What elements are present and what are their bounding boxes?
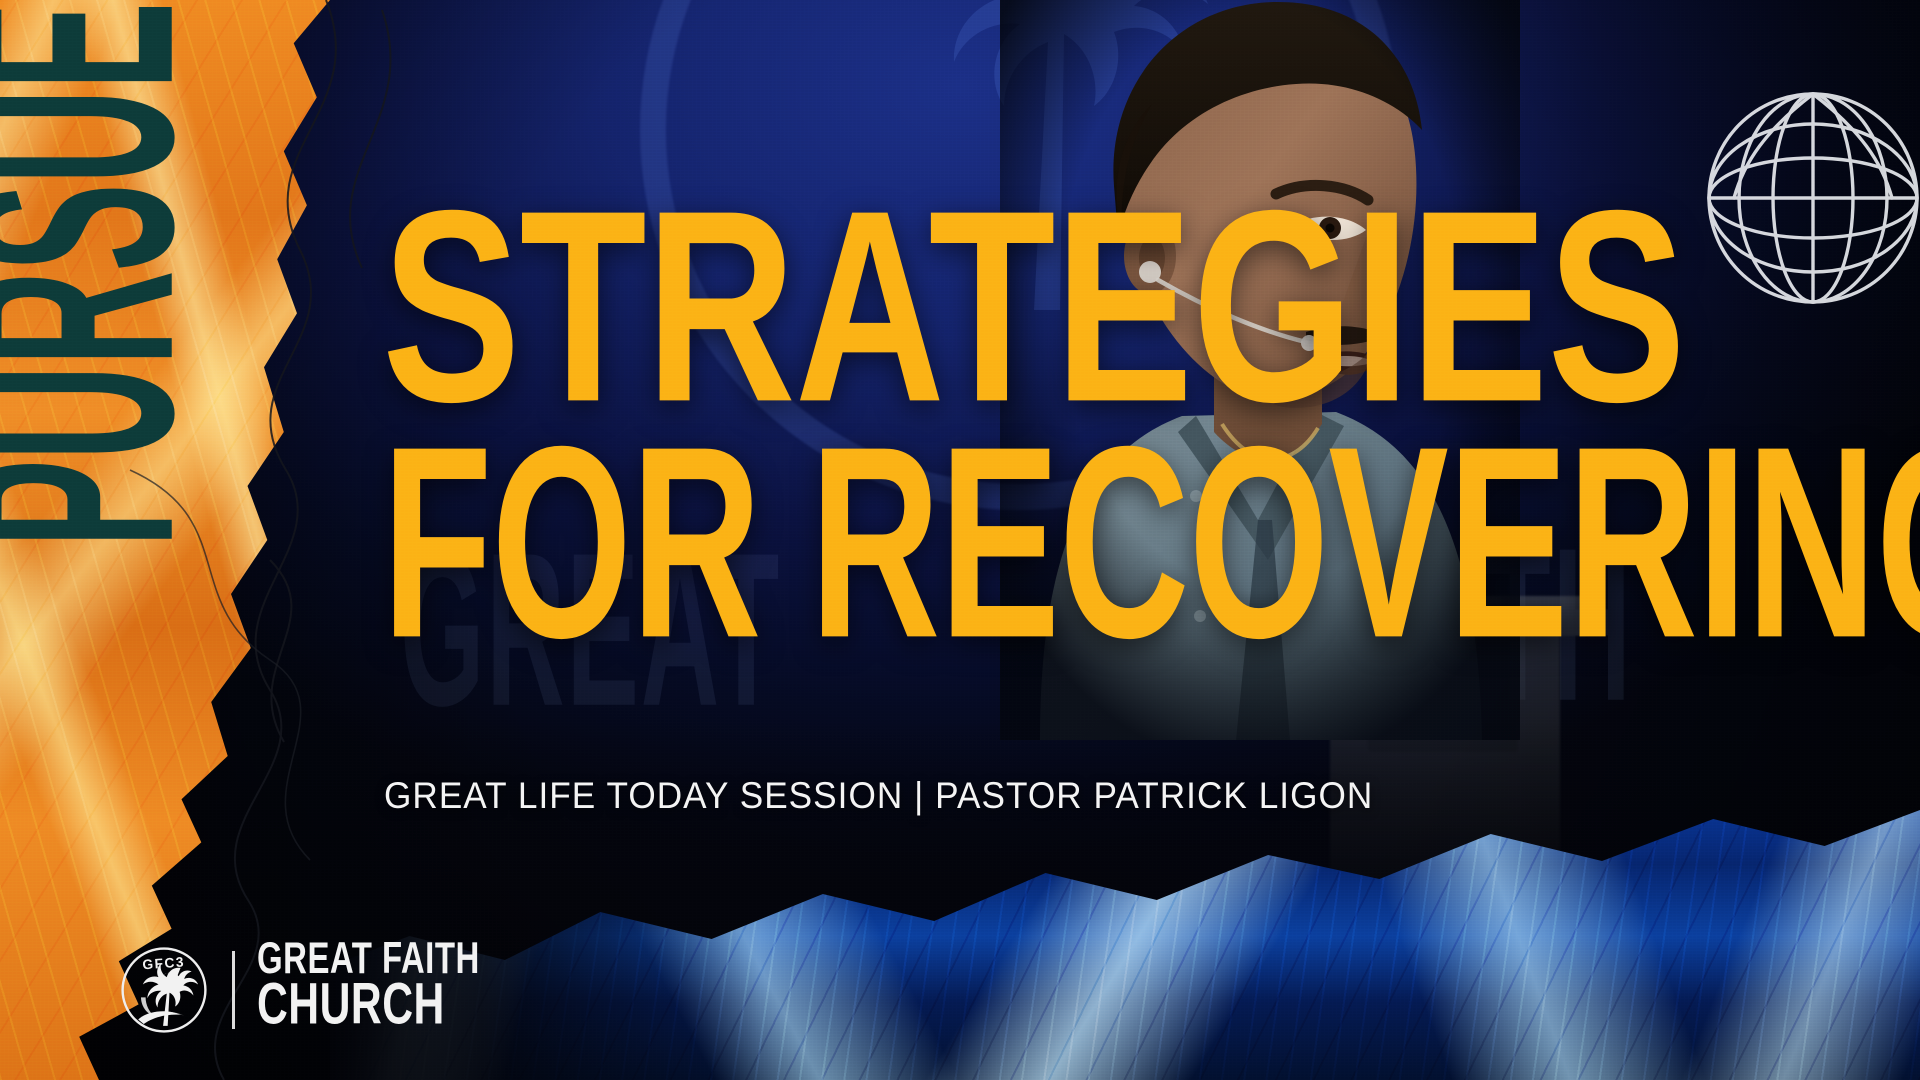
series-word-overtake: OVERTAKE	[1232, 935, 1920, 1080]
pursue-text: PURSUE	[0, 3, 199, 548]
headline-line-2: FOR RECOVERING ALL	[382, 484, 1632, 720]
logo-divider	[232, 951, 235, 1029]
wireframe-globe-icon	[1688, 70, 1920, 320]
subheadline-text: GREAT LIFE TODAY SESSION | PASTOR PATRIC…	[384, 775, 1373, 817]
church-logo-lockup: GFC3 GREAT FAITH CHURCH	[118, 944, 487, 1036]
logo-wordmark: GREAT FAITH CHURCH	[257, 947, 487, 1034]
subheadline: GREAT LIFE TODAY SESSION | PASTOR PATRIC…	[384, 775, 1425, 817]
logo-name-line-2: CHURCH	[257, 975, 480, 1033]
series-word-pursue: PURSUE	[11, 0, 133, 575]
overtake-text: OVERTAKE	[1232, 848, 1920, 1080]
palm-tree-circle-icon: GFC3	[118, 944, 210, 1036]
headline-block: STRATEGIES FOR RECOVERING ALL	[382, 248, 1632, 720]
title-card-graphic: GREAT FAITH	[0, 0, 1920, 1080]
